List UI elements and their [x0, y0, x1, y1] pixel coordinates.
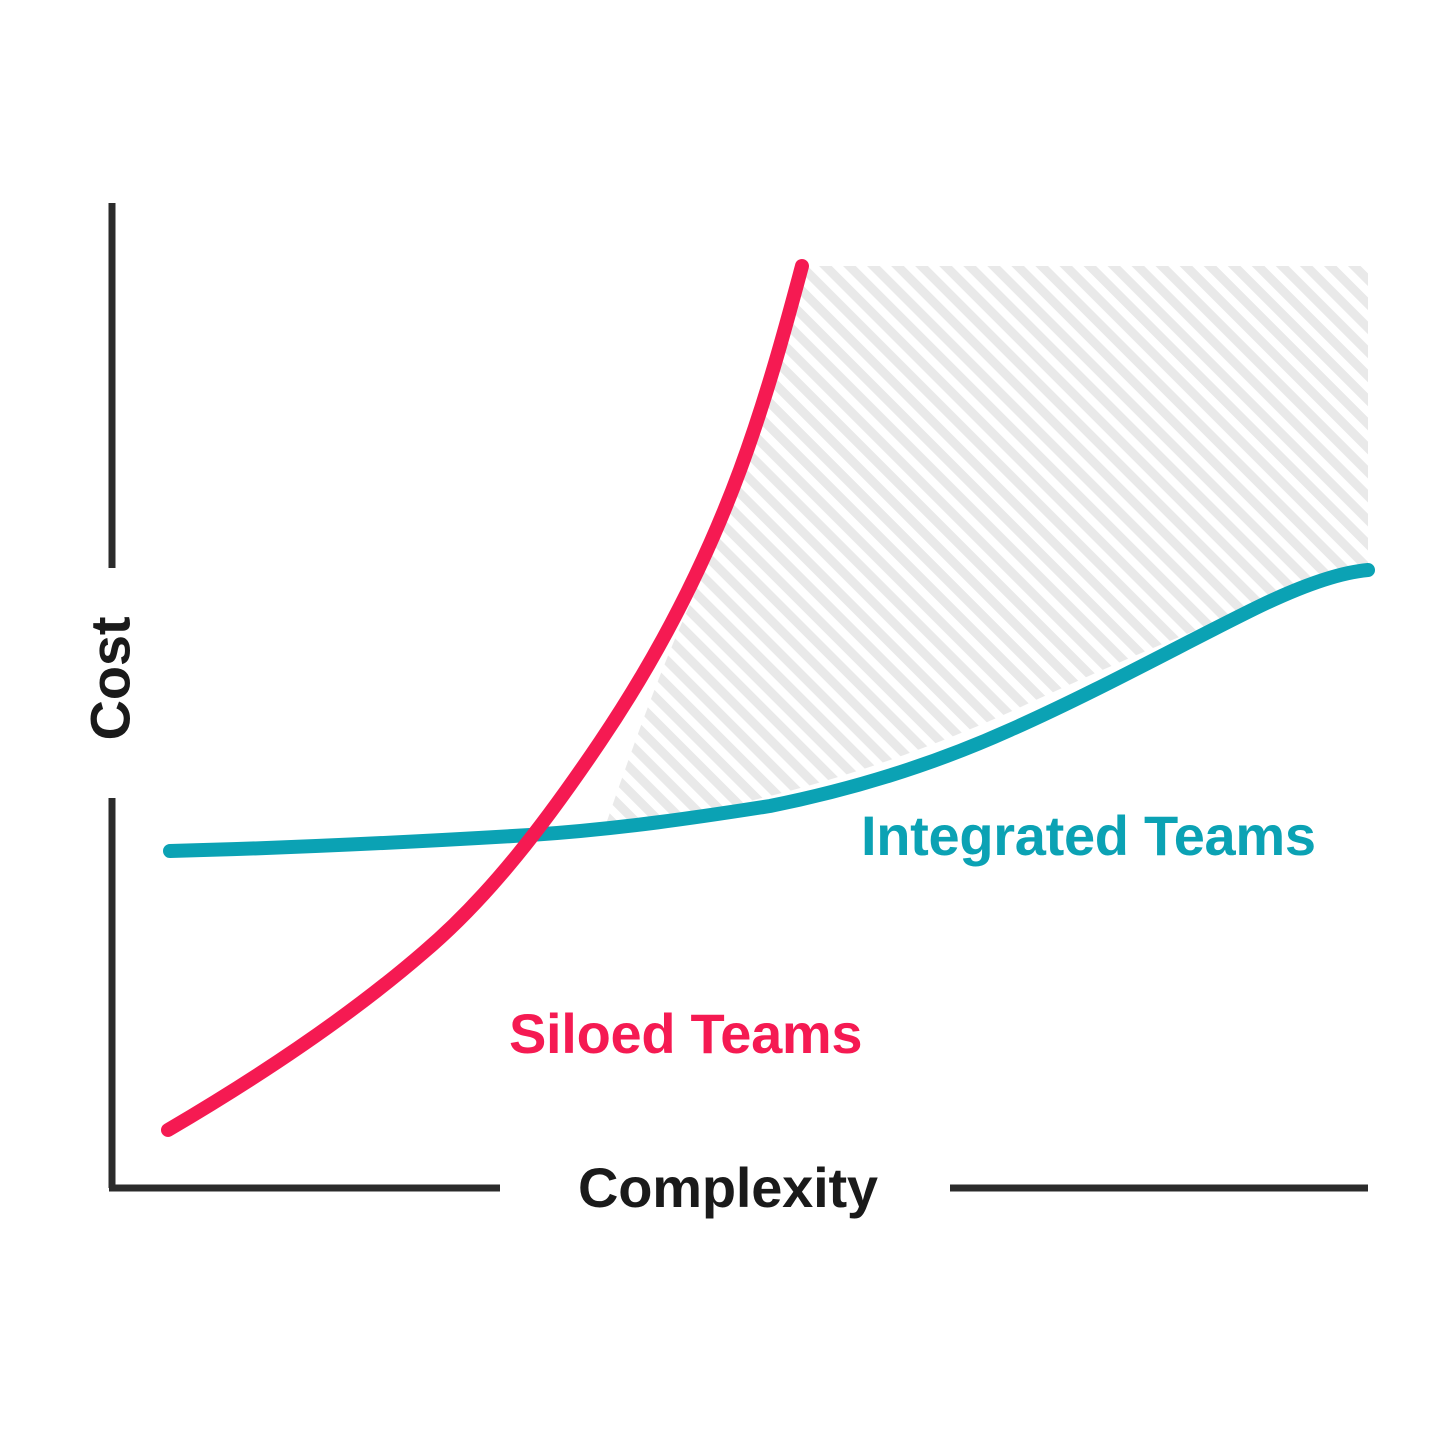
y-axis-label: Cost — [74, 588, 146, 768]
chart-figure: Cost Complexity Integrated Teams Siloed … — [0, 0, 1440, 1440]
series-label-integrated-teams: Integrated Teams — [861, 805, 1316, 867]
y-axis-label-text: Cost — [78, 616, 143, 740]
x-axis-label: Complexity — [578, 1158, 878, 1218]
chart-plot-area — [0, 0, 1440, 1440]
series-label-siloed-teams: Siloed Teams — [509, 1003, 862, 1065]
